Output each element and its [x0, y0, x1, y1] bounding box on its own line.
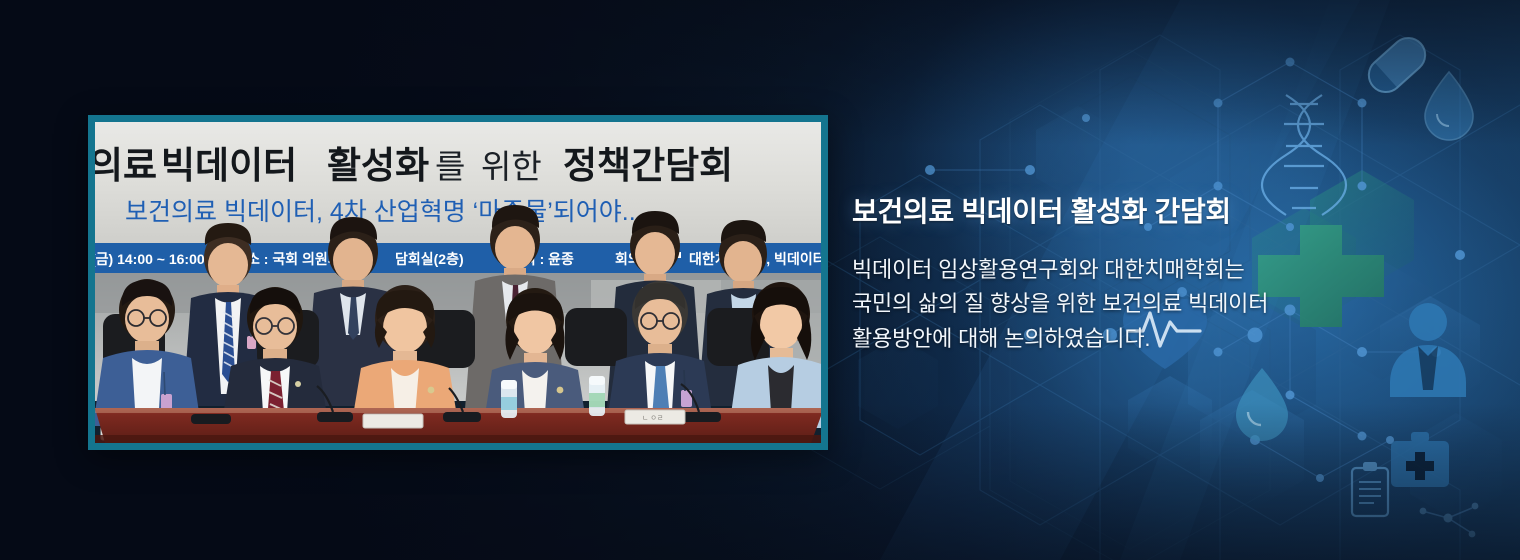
event-photo: 의료 빅데이터 활성화 를 위한 정책간담회 보건의료 빅데이터, 4차 산업혁… [95, 122, 821, 443]
svg-text:보건의료 빅데이터, 4차 산업혁명 ‘마중물’되어야...: 보건의료 빅데이터, 4차 산업혁명 ‘마중물’되어야... [125, 198, 643, 226]
promo-banner: 의료 빅데이터 활성화 를 위한 정책간담회 보건의료 빅데이터, 4차 산업혁… [0, 0, 1520, 560]
page-title: 보건의료 빅데이터 활성화 간담회 [852, 194, 1452, 231]
svg-text:위한: 위한 [481, 148, 542, 185]
event-photo-card[interactable]: 의료 빅데이터 활성화 를 위한 정책간담회 보건의료 빅데이터, 4차 산업혁… [88, 115, 828, 450]
svg-text:빅데이터: 빅데이터 [161, 145, 297, 186]
svg-text:의료: 의료 [95, 145, 157, 186]
promo-description: 빅데이터 임상활용연구회와 대한치매학회는 국민의 삶의 질 향상을 위한 보건… [852, 253, 1452, 356]
svg-text:(금) 14:00 ~ 16:00: (금) 14:00 ~ 16:00 [95, 251, 205, 267]
svg-text:ㄴ ㅇㄹ: ㄴ ㅇㄹ [642, 415, 663, 422]
description-line-3: 활용방안에 대해 논의하였습니다. [852, 322, 1452, 356]
description-line-1: 빅데이터 임상활용연구회와 대한치매학회는 [852, 253, 1452, 287]
svg-text:를: 를 [435, 148, 465, 185]
svg-text:활성화: 활성화 [327, 145, 429, 186]
svg-text:정책간담회: 정책간담회 [563, 145, 733, 186]
description-line-2: 국민의 삶의 질 향상을 위한 보건의료 빅데이터 [852, 287, 1452, 321]
promo-text-block: 보건의료 빅데이터 활성화 간담회 빅데이터 임상활용연구회와 대한치매학회는 … [852, 194, 1452, 356]
svg-text:담회실(2층): 담회실(2층) [395, 251, 464, 267]
